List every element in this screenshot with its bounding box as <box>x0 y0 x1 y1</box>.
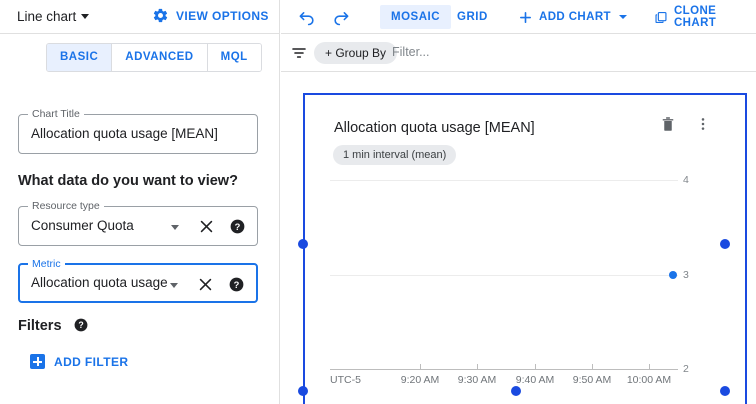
metric-clear-icon[interactable] <box>197 276 214 293</box>
resource-type-value: Consumer Quota <box>31 218 134 233</box>
resource-type-chevron-down-icon[interactable] <box>171 225 179 230</box>
data-point[interactable] <box>669 271 677 279</box>
x-tick <box>535 364 536 370</box>
y-tick-label: 4 <box>683 174 689 186</box>
metric-chevron-down-icon[interactable] <box>170 283 178 288</box>
monitoring-chart-editor: Line chart VIEW OPTIONS BASIC ADVANCED M… <box>0 0 756 404</box>
resize-handle-bottom[interactable] <box>511 386 521 396</box>
config-tabs: BASIC ADVANCED MQL <box>46 43 262 72</box>
chart-type-label: Line chart <box>17 9 76 24</box>
metric-legend: Metric <box>28 258 65 270</box>
add-filter-button[interactable]: ADD FILTER <box>30 354 128 369</box>
x-tick-label: 9:50 AM <box>573 374 612 386</box>
layout-mosaic-button[interactable]: MOSAIC <box>380 5 451 29</box>
resize-handle-right[interactable] <box>720 239 730 249</box>
plus-icon <box>30 354 45 369</box>
x-tick-label: 9:40 AM <box>516 374 555 386</box>
config-tabs-row: BASIC ADVANCED MQL <box>0 34 280 80</box>
x-tick <box>477 364 478 370</box>
chart-title-legend: Chart Title <box>28 108 84 120</box>
clone-chart-button[interactable]: CLONE CHART <box>654 6 756 28</box>
x-tick-label: 9:30 AM <box>458 374 497 386</box>
x-tick <box>592 364 593 370</box>
y-tick-label: 2 <box>683 363 689 375</box>
chevron-down-icon <box>81 14 89 19</box>
data-section-heading: What data do you want to view? <box>18 173 238 189</box>
gear-icon <box>152 7 169 24</box>
chart-tile[interactable]: Allocation quota usage [MEAN] 1 min inte… <box>303 93 747 404</box>
filters-help-icon[interactable]: ? <box>74 318 88 332</box>
add-chart-label: ADD CHART <box>539 11 611 23</box>
tab-advanced[interactable]: ADVANCED <box>112 44 207 71</box>
x-axis-line <box>330 369 678 370</box>
svg-text:?: ? <box>234 280 240 290</box>
timezone-label: UTC-5 <box>330 374 361 386</box>
tab-basic[interactable]: BASIC <box>47 44 112 71</box>
layout-grid-button[interactable]: GRID <box>446 5 499 29</box>
filter-list-icon[interactable] <box>290 45 308 61</box>
add-chart-button[interactable]: ADD CHART <box>518 6 627 28</box>
clone-chart-label: CLONE CHART <box>674 5 756 29</box>
svg-text:?: ? <box>235 222 241 232</box>
resource-type-field[interactable]: Resource type Consumer Quota ? <box>18 206 258 246</box>
chart-title-field[interactable]: Chart Title Allocation quota usage [MEAN… <box>18 114 258 154</box>
chart-interval-badge: 1 min interval (mean) <box>333 145 456 165</box>
resize-handle-bottom-right[interactable] <box>720 386 730 396</box>
x-tick-label: 10:00 AM <box>627 374 671 386</box>
chart-more-options-icon[interactable] <box>695 114 711 134</box>
group-by-chip[interactable]: + Group By <box>314 42 397 64</box>
filter-bar: + Group By Filter... <box>281 34 756 72</box>
gridline <box>330 275 678 276</box>
resource-type-legend: Resource type <box>28 200 104 212</box>
resize-handle-left[interactable] <box>298 239 308 249</box>
y-tick-label: 3 <box>683 269 689 281</box>
view-options-button[interactable]: VIEW OPTIONS <box>152 7 269 24</box>
redo-icon[interactable] <box>331 7 351 27</box>
view-options-label: VIEW OPTIONS <box>176 9 269 23</box>
plus-icon <box>518 10 533 25</box>
chart-config-panel: Line chart VIEW OPTIONS BASIC ADVANCED M… <box>0 0 280 404</box>
undo-icon[interactable] <box>297 7 317 27</box>
resource-type-help-icon[interactable]: ? <box>230 219 245 234</box>
x-tick <box>420 364 421 370</box>
filters-heading: Filters ? <box>18 318 88 334</box>
tab-mql[interactable]: MQL <box>208 44 261 71</box>
dashboard-panel: MOSAIC GRID ADD CHART CLONE CHART <box>281 0 756 404</box>
svg-text:?: ? <box>78 320 83 330</box>
chart-type-dropdown[interactable]: Line chart <box>17 9 89 24</box>
resize-handle-bottom-left[interactable] <box>298 386 308 396</box>
resource-type-clear-icon[interactable] <box>198 218 215 235</box>
filters-label: Filters <box>18 318 62 334</box>
x-tick <box>649 364 650 370</box>
add-filter-label: ADD FILTER <box>54 355 128 369</box>
metric-field[interactable]: Metric Allocation quota usage ? <box>18 263 258 303</box>
chart-title-value: Allocation quota usage [MEAN] <box>31 126 218 141</box>
chart-tile-title: Allocation quota usage [MEAN] <box>334 120 535 136</box>
filter-input[interactable]: Filter... <box>392 45 430 59</box>
metric-value: Allocation quota usage <box>31 275 168 290</box>
metric-help-icon[interactable]: ? <box>229 277 244 292</box>
gridline <box>330 180 678 181</box>
delete-chart-icon[interactable] <box>659 114 677 134</box>
chart-canvas: Allocation quota usage [MEAN] 1 min inte… <box>281 73 756 404</box>
left-panel-header: Line chart VIEW OPTIONS <box>0 0 279 34</box>
clone-icon <box>654 10 668 25</box>
chart-plot-area: 4 3 2 UTC-5 9:20 AM <box>305 175 745 375</box>
dashboard-toolbar: MOSAIC GRID ADD CHART CLONE CHART <box>281 0 756 34</box>
add-chart-chevron-down-icon <box>619 15 627 19</box>
x-tick-label: 9:20 AM <box>401 374 440 386</box>
